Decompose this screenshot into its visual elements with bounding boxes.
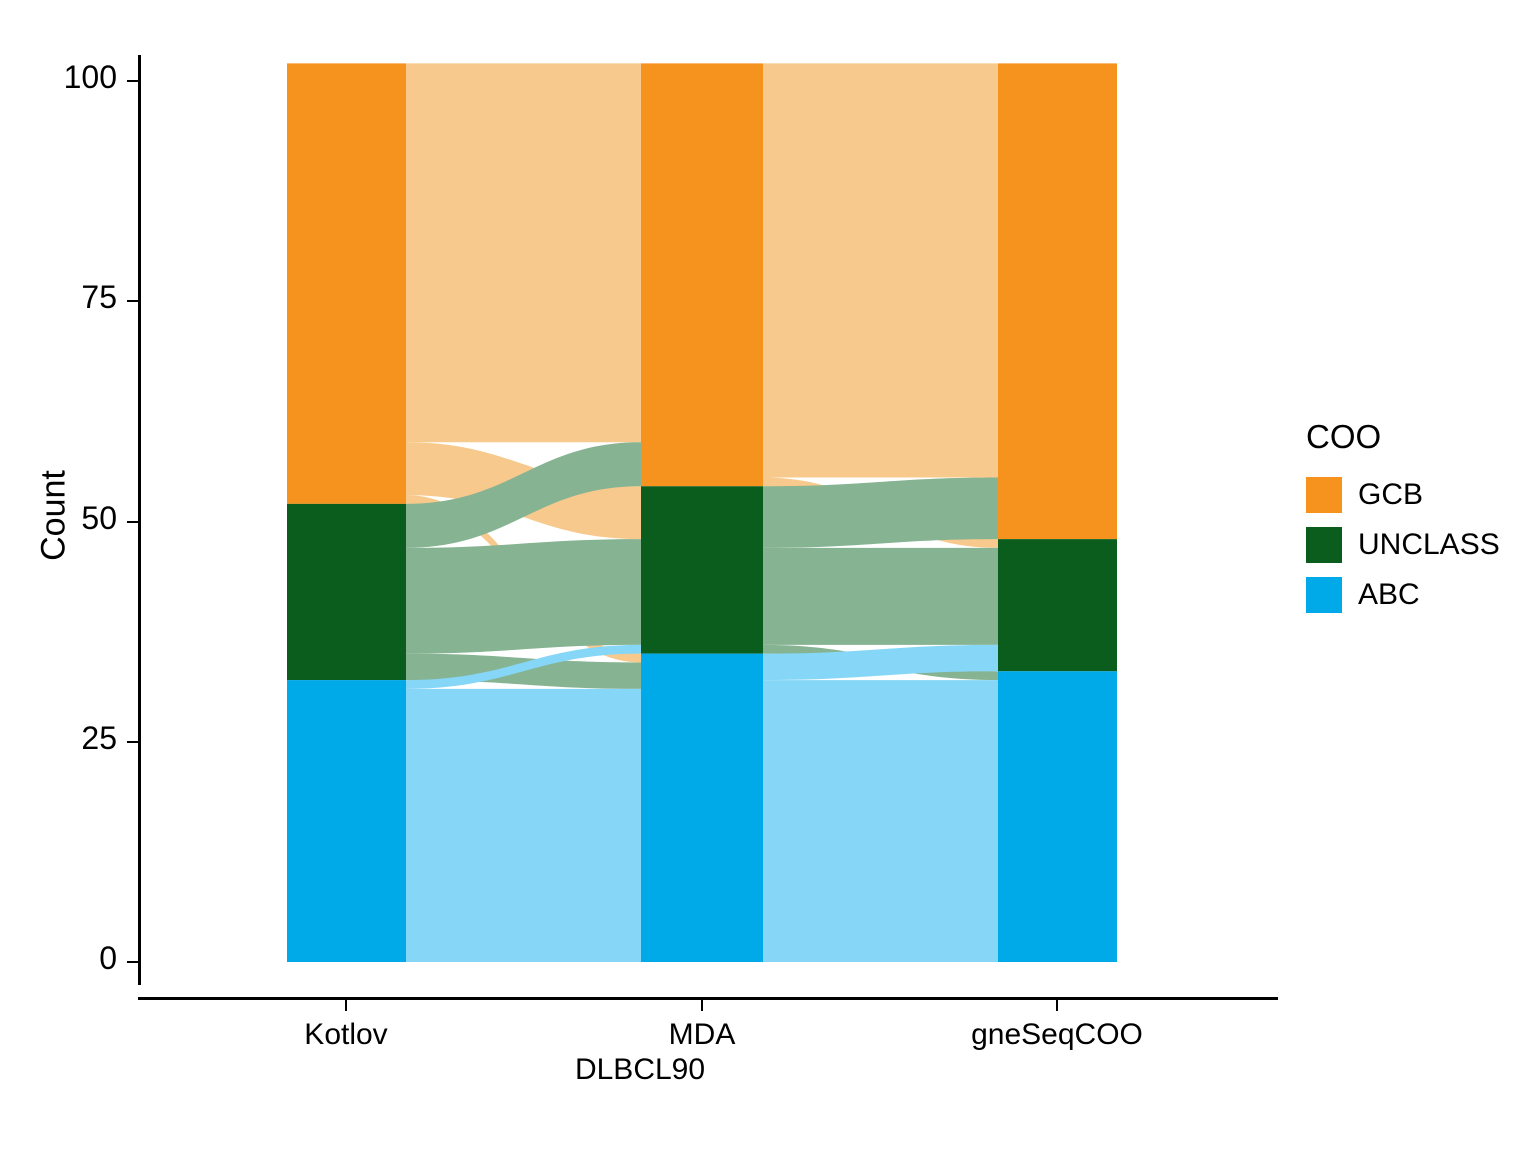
legend-swatch-icon [1306,577,1342,613]
flow-unclass-to-gcb [763,477,998,547]
legend-items: GCBUNCLASSABC [1306,470,1500,620]
stratum-kotlov-unclass [287,504,406,680]
flow-unclass-to-unclass [406,539,641,654]
stratum-kotlov-abc [287,680,406,962]
legend: COO GCBUNCLASSABC [1306,418,1500,620]
legend-title: COO [1306,418,1500,456]
flow-gcb-to-gcb [763,63,998,477]
legend-swatch-icon [1306,477,1342,513]
legend-swatch-icon [1306,527,1342,563]
legend-item-abc[interactable]: ABC [1306,570,1500,620]
plot-stage: Count DLBCL90 0255075100 KotlovMDAgneSeq… [0,0,1536,1152]
legend-item-unclass[interactable]: UNCLASS [1306,520,1500,570]
legend-item-label: ABC [1358,578,1420,612]
stratum-gneseqcoo-gcb [998,63,1117,539]
legend-item-label: GCB [1358,478,1423,512]
stratum-gneseqcoo-unclass [998,539,1117,671]
flow-abc-to-abc [763,680,998,962]
flow-gcb-to-gcb [406,63,641,442]
stratum-gneseqcoo-abc [998,671,1117,962]
stratum-mda-abc [641,654,763,962]
legend-item-gcb[interactable]: GCB [1306,470,1500,520]
stratum-mda-gcb [641,63,763,486]
flow-unclass-to-unclass [763,548,998,645]
legend-item-label: UNCLASS [1358,528,1500,562]
flow-abc-to-abc [406,689,641,962]
stratum-mda-unclass [641,486,763,653]
stratum-kotlov-gcb [287,63,406,504]
